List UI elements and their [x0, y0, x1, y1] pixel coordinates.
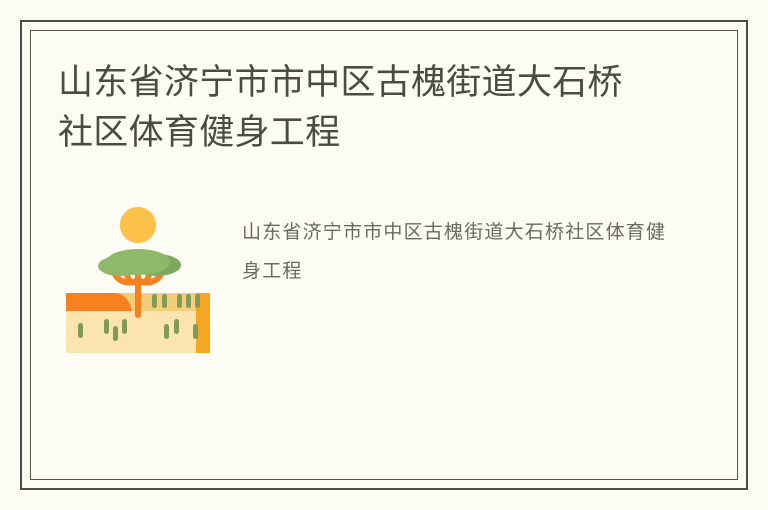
page-title: 山东省济宁市市中区古槐街道大石桥社区体育健身工程 [58, 58, 658, 157]
article-thumbnail[interactable] [58, 193, 218, 353]
article-body-text: 山东省济宁市市中区古槐街道大石桥社区体育健身工程 [242, 193, 672, 291]
tree-crown-top-icon [120, 251, 158, 267]
article-block: 山东省济宁市市中区古槐街道大石桥社区体育健身工程 [58, 193, 702, 353]
hill-icon [66, 293, 132, 311]
content-area: 山东省济宁市市中区古槐街道大石桥社区体育健身工程 [30, 30, 738, 480]
page-root: 山东省济宁市市中区古槐街道大石桥社区体育健身工程 [0, 0, 768, 510]
sun-highlight-icon [120, 207, 156, 243]
landscape-tree-sun-icon [58, 193, 218, 353]
